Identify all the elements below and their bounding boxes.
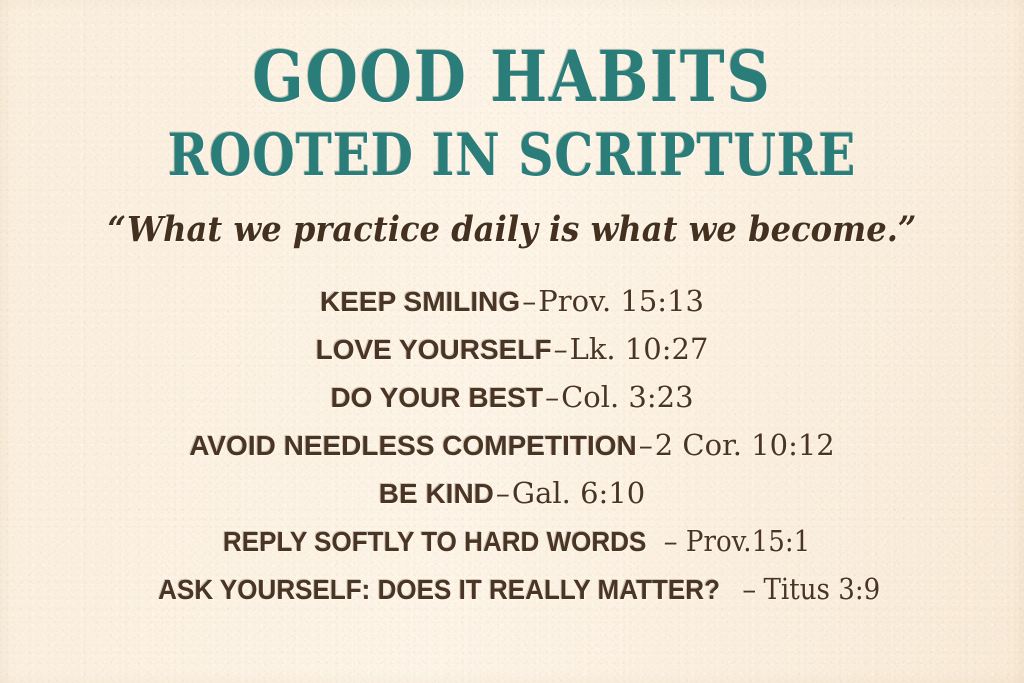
- poster-content: GOOD HABITS ROOTED IN SCRIPTURE “What we…: [0, 0, 1024, 683]
- list-item: BE KIND–Gal. 6:10: [0, 469, 1024, 517]
- scripture-reference: Lk. 10:27: [570, 332, 709, 366]
- list-item: ASK YOURSELF: DOES IT REALLY MATTER?–Tit…: [0, 565, 1024, 613]
- habit-name: BE KIND: [379, 478, 494, 509]
- quote-text: “What we practice daily is what we becom…: [41, 184, 983, 247]
- habit-separator-dash: –: [552, 333, 570, 366]
- list-item: LOVE YOURSELF–Lk. 10:27: [0, 325, 1024, 373]
- habit-name: LOVE YOURSELF: [316, 334, 552, 365]
- habit-list: KEEP SMILING–Prov. 15:13 LOVE YOURSELF–L…: [0, 247, 1024, 613]
- habit-name: AVOID NEEDLESS COMPETITION: [189, 430, 637, 461]
- habit-separator-dash: –: [741, 573, 757, 606]
- scripture-reference: Col. 3:23: [561, 380, 693, 414]
- scripture-reference: Prov.15:1: [686, 517, 810, 565]
- habit-separator-dash: –: [520, 285, 538, 318]
- habit-name: REPLY SOFTLY TO HARD WORDS: [223, 518, 646, 566]
- scripture-reference: 2 Cor. 10:12: [655, 428, 835, 462]
- list-item: REPLY SOFTLY TO HARD WORDS–Prov.15:1: [0, 517, 1024, 565]
- scripture-reference: Gal. 6:10: [512, 476, 645, 510]
- list-item: AVOID NEEDLESS COMPETITION–2 Cor. 10:12: [0, 421, 1024, 469]
- habit-separator-dash: –: [494, 477, 512, 510]
- scripture-reference: Titus 3:9: [764, 565, 881, 613]
- list-item: DO YOUR BEST–Col. 3:23: [0, 373, 1024, 421]
- habit-name: KEEP SMILING: [320, 286, 520, 317]
- scripture-reference: Prov. 15:13: [538, 284, 704, 318]
- list-item: KEEP SMILING–Prov. 15:13: [0, 277, 1024, 325]
- page-title-secondary: ROOTED IN SCRIPTURE: [82, 112, 942, 184]
- habit-separator-dash: –: [663, 525, 679, 558]
- habit-name: DO YOUR BEST: [330, 382, 543, 413]
- page-title-primary: GOOD HABITS: [72, 0, 953, 112]
- habit-separator-dash: –: [543, 381, 561, 414]
- habit-name: ASK YOURSELF: DOES IT REALLY MATTER?: [158, 566, 720, 614]
- habit-separator-dash: –: [637, 429, 655, 462]
